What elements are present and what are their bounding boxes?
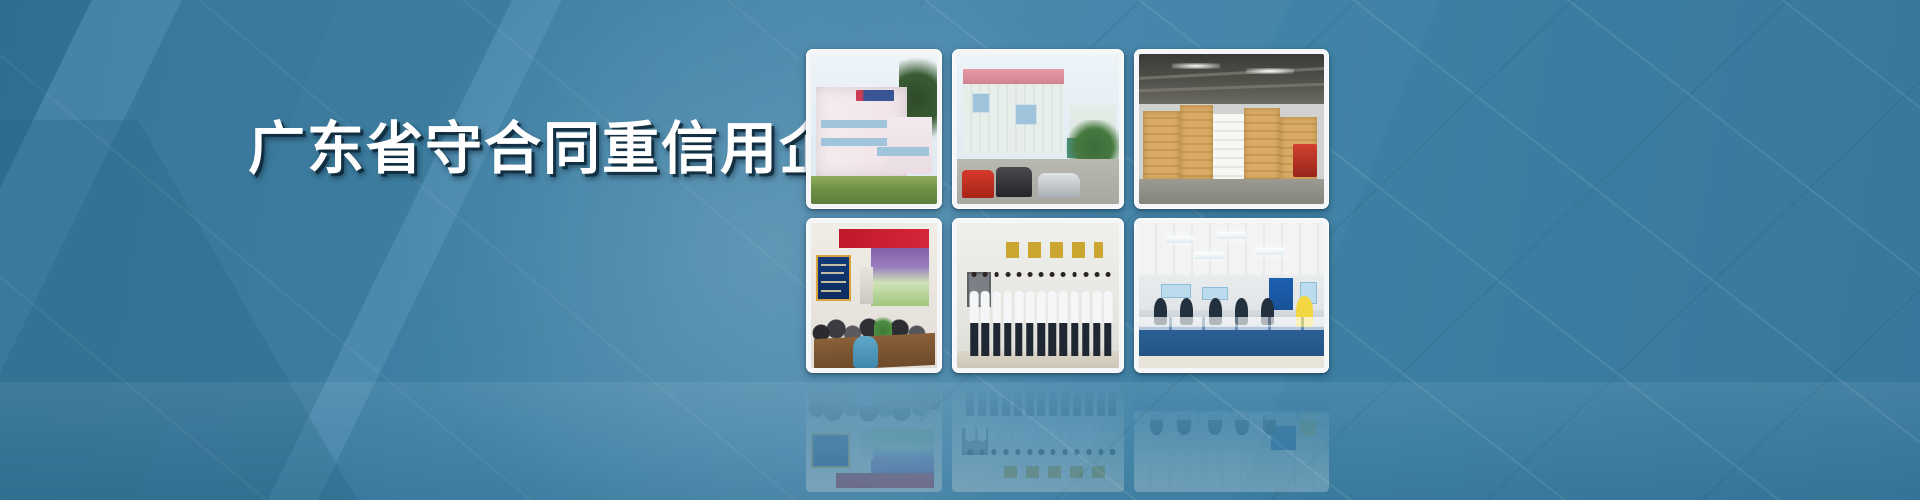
photo-board-line — [821, 272, 844, 274]
photo-staff-member — [1015, 272, 1024, 356]
photo-wall-poster — [1161, 284, 1191, 299]
photo-silver-sedan — [1038, 173, 1080, 199]
photo-ceiling-light — [1195, 252, 1225, 259]
photo-warehouse-floor — [1139, 179, 1324, 205]
photo-conference-meeting[interactable] — [806, 218, 942, 373]
photo-cubicle-glass — [1139, 317, 1324, 330]
photo-staff-member — [1026, 272, 1035, 356]
photo-company-logo — [856, 90, 894, 101]
photo-white-sack-stack — [1213, 114, 1244, 180]
photo-office-floor — [1139, 356, 1324, 368]
photo-board-line — [821, 264, 846, 266]
photo-sack-stack — [1180, 105, 1213, 180]
background-lattice-left — [0, 0, 820, 500]
photo-staff-member — [1059, 272, 1068, 356]
photo-lobby-sign — [1006, 242, 1103, 258]
photo-plant-entrance[interactable] — [952, 49, 1124, 209]
photo-staff-member — [992, 272, 1001, 356]
photo-sack-stack — [1143, 111, 1180, 180]
photo-staff-member — [1093, 272, 1102, 356]
photo-office-cubicles[interactable] — [1134, 218, 1329, 373]
company-photo-grid — [806, 49, 1329, 373]
photo-dark-van — [996, 167, 1032, 197]
photo-staff-member — [1003, 272, 1012, 356]
photo-foreground-attendee — [853, 336, 878, 368]
photo-forklift — [1293, 144, 1317, 177]
photo-building-wing — [887, 117, 932, 174]
photo-red-banner — [839, 229, 930, 248]
photo-factory-exterior[interactable] — [806, 49, 942, 209]
photo-ceiling-light — [1165, 236, 1195, 243]
photo-projection-screen — [871, 248, 929, 306]
photo-office-ceiling — [1139, 223, 1324, 275]
photo-board-line — [821, 281, 846, 283]
photo-staff-member — [981, 272, 990, 356]
photo-staff-member — [1104, 272, 1113, 356]
photo-window-band — [821, 138, 887, 146]
photo-sack-stack — [1244, 108, 1279, 180]
photo-staff-member — [1048, 272, 1057, 356]
photo-ceiling-light — [1256, 248, 1286, 255]
company-banner: 广东省守合同重信用企业 — [0, 0, 1920, 500]
photo-board-line — [821, 290, 841, 292]
photo-ceiling — [1139, 54, 1324, 104]
photo-staff-row — [970, 272, 1113, 356]
photo-window-band — [821, 120, 887, 128]
page-title: 广东省守合同重信用企业 — [248, 121, 897, 178]
photo-staff-member — [970, 272, 979, 356]
photo-staff-member — [1081, 272, 1090, 356]
photo-honor-board — [816, 255, 851, 301]
photo-window — [1015, 104, 1036, 126]
photo-staff-group[interactable] — [952, 218, 1124, 373]
photo-warehouse[interactable] — [1134, 49, 1329, 209]
photo-staff-member — [1070, 272, 1079, 356]
photo-staff-member — [1037, 272, 1046, 356]
photo-hedge — [811, 176, 937, 205]
photo-window — [972, 93, 990, 113]
photo-ceiling-lamp — [1246, 68, 1294, 74]
photo-ceiling-lamp — [1172, 63, 1220, 69]
photo-red-van — [962, 170, 994, 199]
photo-window-band — [877, 147, 930, 156]
photo-ceiling-light — [1217, 232, 1247, 239]
